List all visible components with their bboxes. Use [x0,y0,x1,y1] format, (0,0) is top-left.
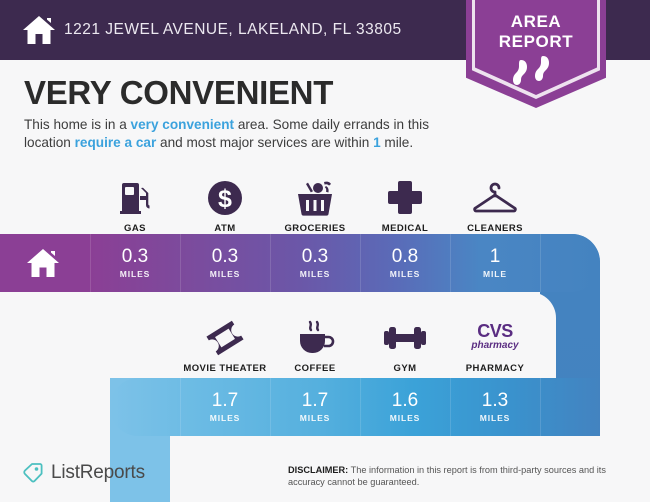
category-label: COFFEE [294,363,335,374]
bar-divider [90,234,91,292]
category-label: MOVIE THEATER [183,363,266,374]
distance-value: 0.3 [122,247,148,267]
distance-unit: MILES [300,269,330,279]
distance-unit: MILES [390,269,420,279]
desc-highlight-3: 1 [373,135,381,150]
category-label: GROCERIES [284,223,345,234]
distance-value: 1.7 [302,391,328,411]
movie-ticket-icon [206,318,244,358]
distance-unit: MILES [480,413,510,423]
distance-unit: MILES [300,413,330,423]
row2-icon-strip: MOVIE THEATER COFFEE [0,312,650,374]
listreports-tag-icon [22,462,44,484]
distance-unit: MILES [210,269,240,279]
distance-cell-coffee: 1.7 MILES [270,378,360,436]
row1-distance-bar: 0.3 MILES 0.3 MILES 0.3 MILES 0.8 MILES … [0,234,600,292]
category-label: MEDICAL [382,223,428,234]
category-coffee: COFFEE [270,312,360,374]
distance-cell-medical: 0.8 MILES [360,234,450,292]
bar-divider [450,378,451,436]
distance-cell-pharmacy: 1.3 MILES [450,378,540,436]
coffee-cup-icon [295,318,335,358]
desc-part-3: and most major services are within [156,135,373,150]
distance-unit: MILES [390,413,420,423]
category-medical: MEDICAL [360,172,450,234]
basket-icon [295,178,335,218]
distance-value: 1.3 [482,391,508,411]
category-atm: $ ATM [180,172,270,234]
bar-divider [270,234,271,292]
category-label: GAS [124,223,146,234]
distance-cell-cleaners: 1 MILE [450,234,540,292]
disclaimer: DISCLAIMER: The information in this repo… [288,464,636,488]
home-icon [22,14,56,46]
bar-divider [540,378,541,436]
page-title: VERY CONVENIENT [24,74,333,112]
category-label: PHARMACY [466,363,525,374]
svg-text:$: $ [218,185,232,213]
distance-value: 1 [490,247,501,267]
distance-value: 0.3 [302,247,328,267]
distance-cell-atm: 0.3 MILES [180,234,270,292]
area-report-infographic: 1221 JEWEL AVENUE, LAKELAND, FL 33805 AR… [0,0,650,502]
category-label: CLEANERS [467,223,523,234]
dollar-circle-icon: $ [207,178,243,218]
svg-text:pharmacy: pharmacy [470,340,519,351]
distance-value: 1.7 [212,391,238,411]
desc-highlight-1: very convenient [131,117,235,132]
home-marker-icon [26,248,60,279]
disclaimer-label: DISCLAIMER: [288,465,348,475]
listreports-wordmark: ListReports [51,462,145,484]
svg-text:CVS: CVS [477,321,513,341]
cvs-pharmacy-logo: CVS pharmacy [466,318,524,358]
bar-divider [540,234,541,292]
category-gym: GYM [360,312,450,374]
distance-cell-movie-theater: 1.7 MILES [180,378,270,436]
category-pharmacy: CVS pharmacy PHARMACY [450,312,540,374]
description-text: This home is in a very convenient area. … [24,116,464,152]
bar-divider [360,378,361,436]
bar-divider [450,234,451,292]
category-movie-theater: MOVIE THEATER [180,312,270,374]
desc-part-4: mile. [381,135,413,150]
medical-cross-icon [387,178,423,218]
distance-value: 0.8 [392,247,418,267]
distance-unit: MILE [483,269,507,279]
distance-value: 1.6 [392,391,418,411]
listreports-logo[interactable]: ListReports [22,462,145,484]
category-label: ATM [214,223,235,234]
desc-highlight-2: require a car [75,135,157,150]
dumbbell-icon [383,318,427,358]
bar-divider [270,378,271,436]
distance-unit: MILES [210,413,240,423]
category-gas: GAS [90,172,180,234]
category-cleaners: CLEANERS [450,172,540,234]
property-address: 1221 JEWEL AVENUE, LAKELAND, FL 33805 [64,0,402,60]
desc-part-1: This home is in a [24,117,131,132]
row1-icon-strip: GAS $ ATM [0,172,650,234]
distance-cell-gym: 1.6 MILES [360,378,450,436]
bar-divider [180,234,181,292]
row2-distance-bar: 1.7 MILES 1.7 MILES 1.6 MILES 1.3 MILES [110,378,600,436]
gas-pump-icon [118,178,152,218]
distance-unit: MILES [120,269,150,279]
bar-divider [180,378,181,436]
category-label: GYM [394,363,417,374]
distance-cell-groceries: 0.3 MILES [270,234,360,292]
category-groceries: GROCERIES [270,172,360,234]
distance-value: 0.3 [212,247,238,267]
bar-divider [360,234,361,292]
hanger-icon [472,178,518,218]
distance-cell-gas: 0.3 MILES [90,234,180,292]
